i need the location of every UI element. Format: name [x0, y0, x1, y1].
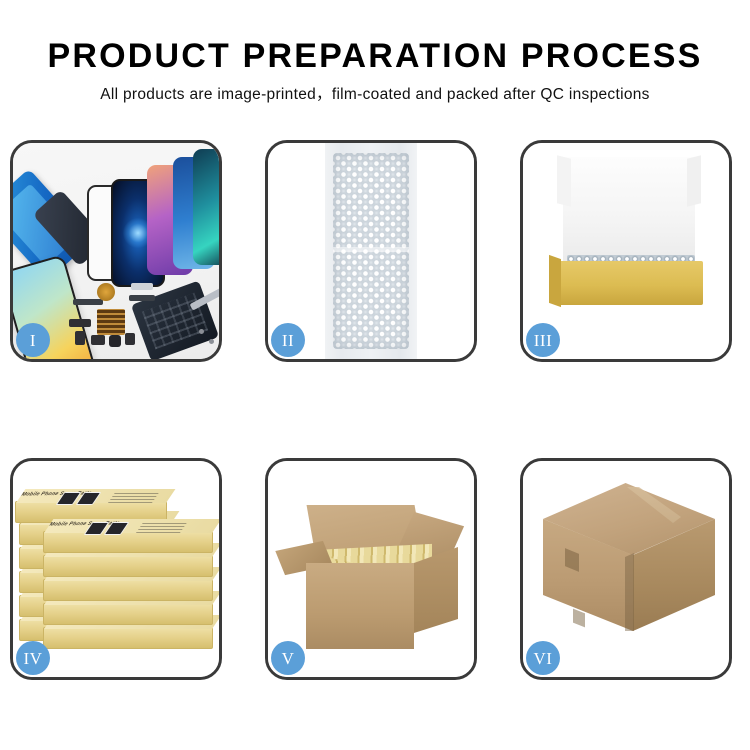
- header: PRODUCT PREPARATION PROCESS All products…: [0, 0, 750, 105]
- screw-part: [209, 339, 214, 344]
- phone-teal-wave: [193, 149, 219, 265]
- step-panel-4[interactable]: Mobile Phone Spare Parts Mobile Phone Sp…: [10, 458, 222, 680]
- box-spec-text: [136, 521, 188, 533]
- logic-board-part: [131, 280, 219, 359]
- step-badge-1: I: [16, 323, 50, 357]
- bracket-part: [75, 331, 85, 345]
- bubble-wrap-sheet: [333, 153, 409, 349]
- speaker-coil-part: [97, 283, 115, 301]
- step-panel-3[interactable]: III: [520, 140, 732, 362]
- carton-front-face: [306, 563, 414, 649]
- step-badge-4: IV: [16, 641, 50, 675]
- step-panel-1[interactable]: I: [10, 140, 222, 362]
- retail-box-top-right: Mobile Phone Spare Parts: [43, 531, 213, 553]
- step-panel-6[interactable]: VI: [520, 458, 732, 680]
- retail-box: [43, 627, 213, 649]
- steps-grid: I II III: [10, 140, 742, 680]
- flex-cable-part: [73, 299, 103, 305]
- page-title: PRODUCT PREPARATION PROCESS: [0, 0, 750, 76]
- step-badge-6: VI: [526, 641, 560, 675]
- step-panel-2[interactable]: II: [265, 140, 477, 362]
- step-badge-5: V: [271, 641, 305, 675]
- page-subtitle: All products are image-printed，film-coat…: [0, 76, 750, 105]
- camera-module-part: [91, 335, 105, 345]
- chip-array-part: [97, 309, 125, 335]
- open-shipping-carton: [284, 489, 464, 659]
- retail-box: [43, 579, 213, 601]
- product-preparation-infographic: PRODUCT PREPARATION PROCESS All products…: [0, 0, 750, 750]
- sealed-shipping-carton: [537, 483, 721, 655]
- power-flex-part: [129, 295, 155, 301]
- retail-box: [43, 555, 213, 577]
- step-badge-2: II: [271, 323, 305, 357]
- taptic-engine-part: [109, 335, 121, 347]
- kraft-box-tray: [557, 261, 703, 305]
- box-spec-text: [108, 491, 160, 503]
- sim-tray-part: [125, 333, 135, 345]
- connector-part: [69, 319, 91, 327]
- step-badge-3: III: [526, 323, 560, 357]
- retail-box: [43, 603, 213, 625]
- step-panel-5[interactable]: V: [265, 458, 477, 680]
- carton-handle-cut: [573, 609, 585, 628]
- screw-part: [199, 329, 204, 334]
- volume-button-part: [131, 283, 153, 290]
